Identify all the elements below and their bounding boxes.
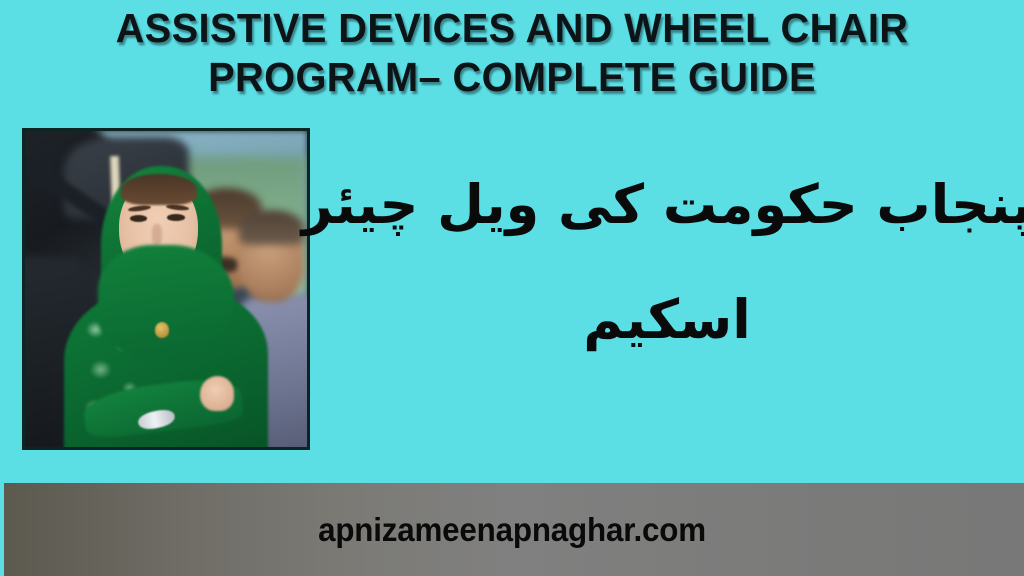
photo-woman-nose [152, 224, 162, 245]
poster-canvas: ASSISTIVE DEVICES AND WHEEL CHAIR PROGRA… [0, 0, 1024, 576]
urdu-headline-line-1: پنجاب حکومت کی ویل چیئر [302, 150, 1024, 260]
page-title: ASSISTIVE DEVICES AND WHEEL CHAIR PROGRA… [0, 4, 1024, 102]
photo-woman-eye-left [130, 215, 147, 222]
photo-woman-scarf-drape [98, 245, 233, 359]
footer-bar: apnizameenapnaghar.com [0, 483, 1024, 576]
photo-woman-hand [200, 376, 234, 411]
feature-photo [22, 128, 310, 450]
urdu-headline: پنجاب حکومت کی ویل چیئر اسکیم [330, 150, 1004, 450]
photo-woman-hair [121, 174, 197, 206]
photo-man2-hair [239, 210, 304, 245]
photo-content [25, 131, 307, 447]
footer-website-label: apnizameenapnaghar.com [26, 483, 999, 576]
photo-woman-eye-right [167, 214, 184, 221]
title-line-1: ASSISTIVE DEVICES AND WHEEL CHAIR [54, 4, 970, 53]
photo-woman-brooch [155, 322, 169, 338]
urdu-headline-line-2: اسکیم [583, 260, 750, 380]
footer-left-accent-strip [0, 483, 4, 576]
title-line-2: PROGRAM– COMPLETE GUIDE [54, 53, 970, 102]
